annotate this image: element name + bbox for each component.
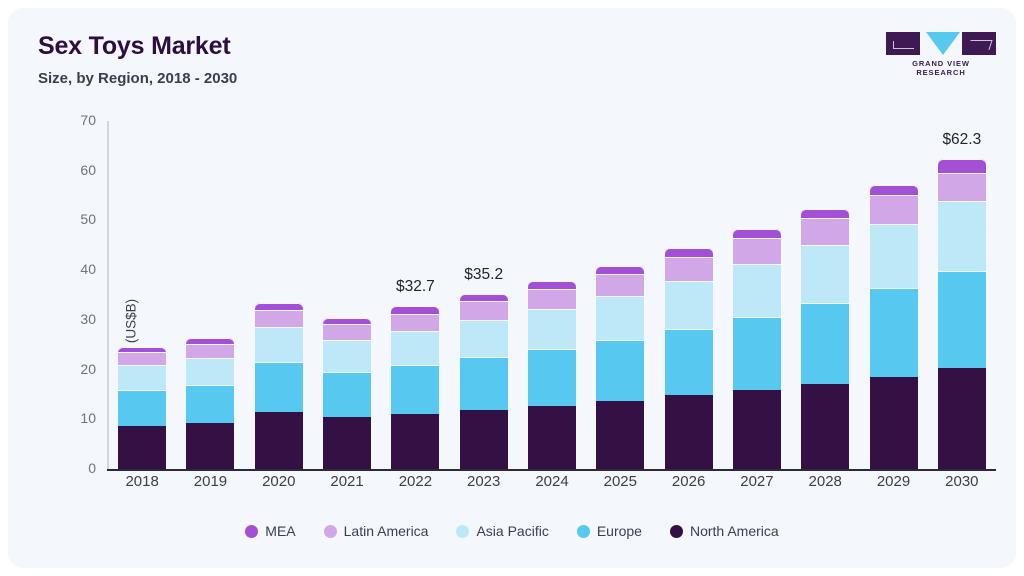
bar-segment-mea[interactable] (460, 294, 508, 301)
bar-segment-mea[interactable] (870, 185, 918, 195)
y-axis-tick-label: 60 (50, 162, 96, 178)
chart-card: Sex Toys Market Size, by Region, 2018 - … (8, 8, 1016, 568)
bar-segment-latin-america[interactable] (528, 289, 576, 309)
bar-segment-mea[interactable] (391, 306, 439, 313)
bar-segment-north-america[interactable] (460, 410, 508, 469)
bar-segment-europe[interactable] (596, 340, 644, 401)
bar-segment-europe[interactable] (801, 303, 849, 384)
bar-segment-mea[interactable] (255, 303, 303, 309)
bar-segment-mea[interactable] (323, 318, 371, 324)
legend-swatch-icon (456, 525, 469, 538)
bar-segment-europe[interactable] (870, 288, 918, 377)
bar-segment-asia-pacific[interactable] (528, 309, 576, 349)
bar-2022[interactable] (391, 306, 439, 469)
bar-segment-europe[interactable] (938, 271, 986, 368)
bar-segment-europe[interactable] (733, 317, 781, 390)
x-axis-tick-label: 2025 (585, 473, 655, 490)
bar-segment-north-america[interactable] (528, 406, 576, 469)
y-axis-tick-label: 70 (50, 112, 96, 128)
bar-segment-mea[interactable] (665, 248, 713, 256)
bar-segment-north-america[interactable] (870, 377, 918, 469)
bar-segment-latin-america[interactable] (391, 314, 439, 331)
bar-segment-europe[interactable] (118, 390, 166, 426)
legend-item-mea[interactable]: MEA (245, 523, 295, 539)
legend-item-north-america[interactable]: North America (670, 523, 779, 539)
bar-segment-europe[interactable] (186, 385, 234, 424)
x-axis-tick-label: 2029 (859, 473, 929, 490)
bar-segment-latin-america[interactable] (118, 352, 166, 365)
x-axis-tick-label: 2021 (312, 473, 382, 490)
bar-segment-latin-america[interactable] (596, 274, 644, 296)
legend-swatch-icon (670, 525, 683, 538)
bar-segment-latin-america[interactable] (870, 195, 918, 224)
x-axis-tick-label: 2027 (722, 473, 792, 490)
bar-segment-europe[interactable] (665, 329, 713, 395)
y-axis-tick-label: 40 (50, 261, 96, 277)
y-axis-tick-label: 10 (50, 410, 96, 426)
bar-segment-asia-pacific[interactable] (118, 365, 166, 390)
x-axis-tick-label: 2024 (517, 473, 587, 490)
page-subtitle: Size, by Region, 2018 - 2030 (38, 70, 237, 87)
legend-swatch-icon (245, 525, 258, 538)
legend-swatch-icon (324, 525, 337, 538)
logo-marks (886, 32, 996, 56)
legend-item-label: Asia Pacific (476, 523, 548, 539)
legend-item-label: Europe (597, 523, 642, 539)
bar-segment-north-america[interactable] (255, 412, 303, 469)
y-axis-tick-label: 30 (50, 311, 96, 327)
bar-2020[interactable] (255, 303, 303, 469)
bar-segment-mea[interactable] (938, 159, 986, 173)
bar-segment-north-america[interactable] (938, 368, 986, 469)
x-axis-tick-label: 2020 (244, 473, 314, 490)
bar-value-label: $62.3 (917, 131, 1007, 149)
logo-left-block-icon (886, 32, 920, 55)
bar-segment-mea[interactable] (118, 347, 166, 352)
chart-legend: MEALatin AmericaAsia PacificEuropeNorth … (8, 523, 1016, 539)
bar-segment-asia-pacific[interactable] (323, 340, 371, 372)
x-axis-tick-label: 2023 (449, 473, 519, 490)
bar-2029[interactable] (870, 185, 918, 469)
bar-segment-north-america[interactable] (118, 426, 166, 469)
bar-segment-north-america[interactable] (186, 423, 234, 469)
bar-2027[interactable] (733, 229, 781, 469)
page-title: Sex Toys Market (38, 32, 230, 61)
bar-segment-latin-america[interactable] (323, 324, 371, 340)
bar-segment-asia-pacific[interactable] (460, 320, 508, 357)
x-axis-tick-label: 2018 (107, 473, 177, 490)
bar-2025[interactable] (596, 266, 644, 469)
legend-item-latin-america[interactable]: Latin America (324, 523, 429, 539)
bar-segment-north-america[interactable] (665, 395, 713, 469)
bar-segment-latin-america[interactable] (186, 344, 234, 358)
bar-segment-asia-pacific[interactable] (391, 331, 439, 365)
bar-segment-north-america[interactable] (801, 384, 849, 469)
bar-segment-asia-pacific[interactable] (733, 264, 781, 318)
bar-segment-mea[interactable] (528, 281, 576, 289)
bar-segment-asia-pacific[interactable] (186, 358, 234, 385)
logo-right-block-icon (962, 32, 996, 55)
bar-segment-europe[interactable] (391, 365, 439, 414)
bar-segment-north-america[interactable] (323, 417, 371, 469)
bar-2028[interactable] (801, 209, 849, 470)
bar-segment-asia-pacific[interactable] (870, 224, 918, 288)
legend-swatch-icon (577, 525, 590, 538)
grand-view-research-logo: GRAND VIEW RESEARCH (886, 32, 996, 72)
y-axis-tick-label: 50 (50, 211, 96, 227)
x-axis-tick-label: 2026 (654, 473, 724, 490)
bar-segment-europe[interactable] (460, 357, 508, 410)
bar-2026[interactable] (665, 248, 713, 469)
bar-segment-asia-pacific[interactable] (596, 296, 644, 340)
bar-2018[interactable] (118, 347, 166, 469)
bar-segment-europe[interactable] (528, 349, 576, 406)
bar-segment-europe[interactable] (323, 372, 371, 418)
logo-wordmark: GRAND VIEW RESEARCH (886, 59, 996, 77)
bar-segment-asia-pacific[interactable] (938, 201, 986, 272)
plot-area: Market Size (US$B) 20182019202020212022$… (108, 121, 996, 469)
x-axis-line (107, 469, 996, 471)
bar-2024[interactable] (528, 281, 576, 469)
bar-segment-europe[interactable] (255, 362, 303, 412)
bar-segment-asia-pacific[interactable] (665, 281, 713, 330)
logo-triangle-icon (926, 32, 960, 55)
bar-segment-latin-america[interactable] (938, 173, 986, 200)
legend-item-label: North America (690, 523, 779, 539)
bar-segment-mea[interactable] (596, 266, 644, 274)
bar-segment-mea[interactable] (801, 209, 849, 218)
x-axis-tick-label: 2019 (175, 473, 245, 490)
bar-segment-asia-pacific[interactable] (801, 245, 849, 304)
bar-segment-north-america[interactable] (596, 401, 644, 469)
x-axis-tick-label: 2030 (927, 473, 997, 490)
bar-segment-mea[interactable] (186, 338, 234, 343)
y-axis-tick-label: 0 (50, 460, 96, 476)
bar-segment-asia-pacific[interactable] (255, 327, 303, 362)
bar-segment-latin-america[interactable] (665, 257, 713, 281)
y-axis-tick-label: 20 (50, 361, 96, 377)
x-axis-tick-label: 2028 (790, 473, 860, 490)
bar-segment-mea[interactable] (733, 229, 781, 238)
bar-2030[interactable] (938, 159, 986, 469)
bar-segment-latin-america[interactable] (801, 218, 849, 245)
legend-item-label: MEA (265, 523, 295, 539)
bar-2023[interactable] (460, 294, 508, 469)
legend-item-label: Latin America (344, 523, 429, 539)
bar-value-label: $35.2 (439, 266, 529, 284)
bar-2019[interactable] (186, 338, 234, 469)
bar-2021[interactable] (323, 318, 371, 469)
bar-segment-north-america[interactable] (391, 414, 439, 469)
bar-segment-latin-america[interactable] (255, 310, 303, 327)
legend-item-europe[interactable]: Europe (577, 523, 642, 539)
bar-segment-latin-america[interactable] (460, 301, 508, 320)
bar-segment-latin-america[interactable] (733, 238, 781, 263)
y-axis-ticks: 706050403020100 (38, 121, 96, 469)
bar-segment-north-america[interactable] (733, 390, 781, 469)
x-axis-tick-label: 2022 (380, 473, 450, 490)
legend-item-asia-pacific[interactable]: Asia Pacific (456, 523, 548, 539)
